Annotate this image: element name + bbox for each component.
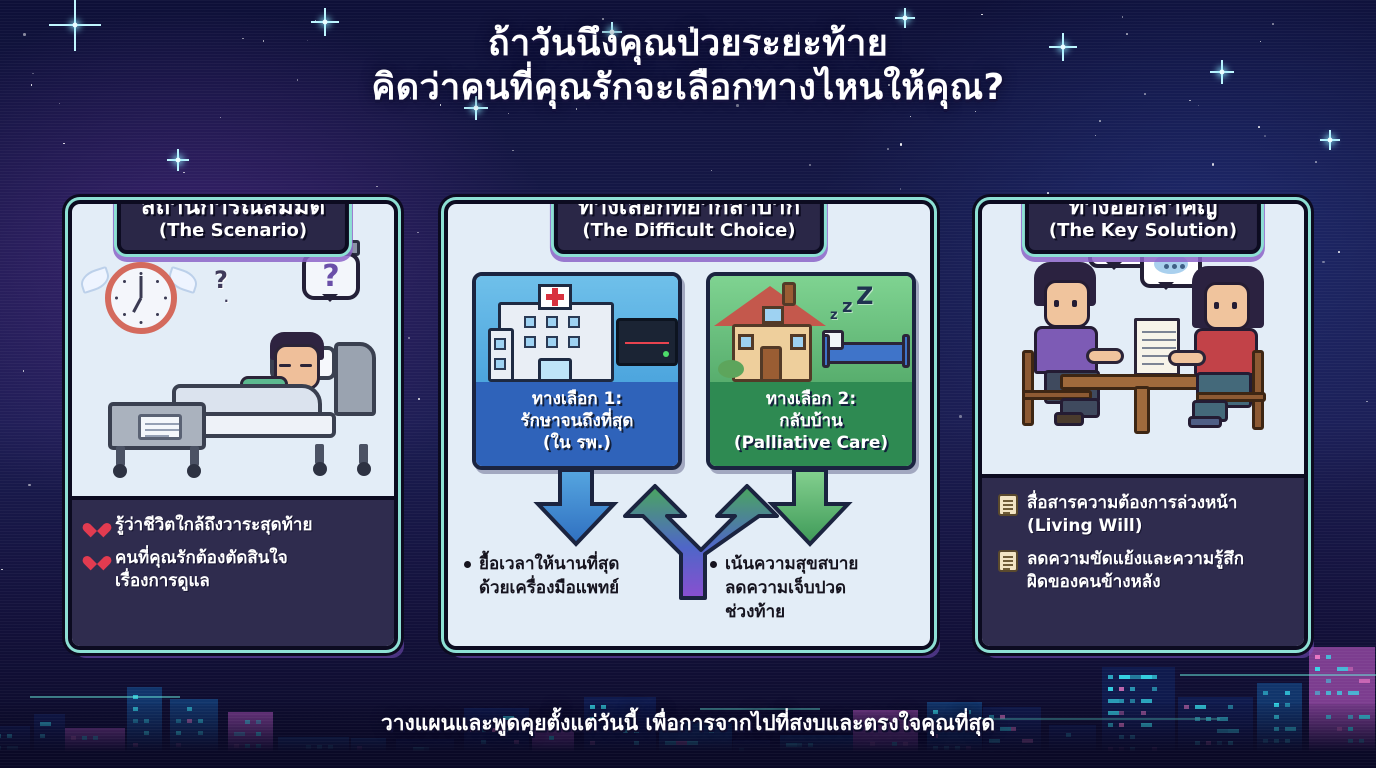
star <box>975 111 977 113</box>
scenario-bullets: รู้ว่าชีวิตใกล้ถึงวาระสุดท้าย คนที่คุณรั… <box>72 496 394 646</box>
list-item: รู้ว่าชีวิตใกล้ถึงวาระสุดท้าย <box>88 514 380 537</box>
star <box>1047 192 1049 194</box>
building-window <box>1337 691 1342 695</box>
building-window <box>1348 691 1359 695</box>
star <box>1264 135 1266 137</box>
choice-2-bullet: เน้นความสุขสบาย ลดความเจ็บปวด ช่วงท้าย <box>710 552 922 624</box>
building-window <box>1285 691 1290 695</box>
building-window <box>1359 679 1370 683</box>
neon-wire <box>30 696 180 698</box>
building-window <box>1130 687 1135 691</box>
building-window <box>1326 691 1331 695</box>
building-window <box>1348 667 1353 671</box>
star <box>183 172 185 174</box>
panel-header-english: (The Scenario) <box>141 220 325 242</box>
home-bed-icon: Z z z <box>710 276 912 390</box>
panel-header-english: (The Difficult Choice) <box>578 220 800 242</box>
living-will-document-icon <box>1134 318 1180 376</box>
patient-eye-left <box>279 364 291 367</box>
person-left <box>1024 262 1144 442</box>
building-window <box>1315 655 1320 659</box>
choice-1-line-3: (ใน รพ.) <box>480 432 674 454</box>
hospital-bed <box>94 314 384 454</box>
person-right <box>1186 266 1306 446</box>
title-line-2: คิดว่าคนที่คุณรักจะเลือกทางไหนให้คุณ? <box>0 66 1376 110</box>
bullet-text: ยื้อเวลาให้นานที่สุด ด้วยเครื่องมือแพทย์ <box>479 552 619 600</box>
chair-left <box>1022 350 1034 426</box>
building-window <box>1315 667 1320 671</box>
bullet-text: เน้นความสุขสบาย ลดความเจ็บปวด ช่วงท้าย <box>725 552 858 624</box>
table-leg <box>1134 386 1150 434</box>
bullet-text: รู้ว่าชีวิตใกล้ถึงวาระสุดท้าย <box>115 514 312 537</box>
scroll-document-icon <box>998 550 1018 572</box>
building-window <box>1326 655 1331 659</box>
person-left-arm <box>1086 348 1124 364</box>
person-right-shoe <box>1188 416 1222 428</box>
choice-1-line-2: รักษาจนถึงที่สุด <box>480 410 674 432</box>
building-window <box>1130 675 1141 679</box>
heart-icon <box>88 517 106 534</box>
list-item: คนที่คุณรักต้องตัดสินใจ เรื่องการดูแล <box>88 547 380 593</box>
person-right-arm <box>1168 350 1206 366</box>
star <box>1338 251 1340 253</box>
sparkle-star <box>167 149 189 171</box>
star <box>900 188 902 190</box>
neon-wire <box>1180 674 1376 676</box>
title-line-1: ถ้าวันนึงคุณป่วยระยะท้าย <box>0 22 1376 66</box>
person-left-face <box>1044 280 1090 328</box>
star <box>1099 120 1101 122</box>
bullet-dot <box>710 561 717 568</box>
star <box>959 415 962 418</box>
chair-right <box>1252 350 1264 430</box>
person-left-shoe <box>1054 412 1084 426</box>
choice-1-caption: ทางเลือก 1: รักษาจนถึงที่สุด (ใน รพ.) <box>476 382 678 466</box>
footer-caption: วางแผนและพูดคุยตั้งแต่วันนี้ เพื่อการจาก… <box>0 707 1376 740</box>
building-window <box>1119 699 1124 703</box>
bullet-text: สื่อสารความต้องการล่วงหน้า (Living Will) <box>1027 492 1237 538</box>
patient-eye-right <box>300 364 312 367</box>
star <box>330 194 332 196</box>
building-window <box>1315 691 1320 695</box>
star <box>63 143 65 145</box>
star <box>1315 161 1317 163</box>
person-right-face <box>1204 282 1250 330</box>
hospital-icon <box>476 276 678 390</box>
star <box>28 484 31 487</box>
panel-difficult-choice-header: ทางเลือกที่ยากลำบาก (The Difficult Choic… <box>554 200 824 254</box>
panel-header-thai: ทางออกสำคัญ <box>1049 200 1237 220</box>
panel-scenario-header: สถานการณ์สมมติ (The Scenario) <box>117 200 349 254</box>
building-window <box>1337 667 1348 671</box>
star <box>887 148 889 150</box>
panel-difficult-choice: ทางเลือก 1: รักษาจนถึงที่สุด (ใน รพ.) <box>444 200 934 650</box>
building-window <box>1108 675 1113 679</box>
choice-card-1[interactable]: ทางเลือก 1: รักษาจนถึงที่สุด (ใน รพ.) <box>472 272 682 470</box>
choice-1-bullet: ยื้อเวลาให้นานที่สุด ด้วยเครื่องมือแพทย์ <box>464 552 672 600</box>
panel-header-english: (The Key Solution) <box>1049 220 1237 242</box>
star <box>376 186 378 188</box>
star <box>1122 16 1124 18</box>
bed-headboard <box>334 342 376 416</box>
panel-key-solution: สื่อสารความต้องการล่วงหน้า (Living Will)… <box>978 200 1308 650</box>
panel-key-solution-header: ทางออกสำคัญ (The Key Solution) <box>1025 200 1261 254</box>
choice-2-caption: ทางเลือก 2: กลับบ้าน (Palliative Care) <box>710 382 912 466</box>
building-window <box>1141 699 1152 703</box>
question-mark-small-icon: ? <box>214 266 228 294</box>
star <box>900 143 903 146</box>
panel-header-thai: สถานการณ์สมมติ <box>141 200 325 220</box>
choice-2-line-1: ทางเลือก 2: <box>714 388 908 410</box>
choice-2-line-2: กลับบ้าน <box>714 410 908 432</box>
star <box>910 116 912 118</box>
list-item: ลดความขัดแย้งและความรู้สึก ผิดของคนข้างห… <box>998 548 1290 594</box>
building-window <box>1152 675 1157 679</box>
scroll-document-icon <box>998 494 1018 516</box>
choice-1-line-1: ทางเลือก 1: <box>480 388 674 410</box>
building-window <box>1108 687 1113 691</box>
page-title: ถ้าวันนึงคุณป่วยระยะท้าย คิดว่าคนที่คุณร… <box>0 22 1376 110</box>
building-window <box>1152 687 1157 691</box>
building-window <box>1141 675 1152 679</box>
list-item: สื่อสารความต้องการล่วงหน้า (Living Will) <box>998 492 1290 538</box>
question-thought-bubble: ? <box>302 252 360 300</box>
sparkle-star <box>1320 130 1340 150</box>
star <box>1258 126 1260 128</box>
star <box>512 150 514 152</box>
panel-scenario: ? · ? <box>68 200 398 650</box>
heart-icon <box>88 550 106 567</box>
building-window <box>1263 691 1268 695</box>
bullet-text: ลดความขัดแย้งและความรู้สึก ผิดของคนข้างห… <box>1027 548 1244 594</box>
building-window <box>1119 675 1130 679</box>
bed-chart-icon <box>138 414 182 440</box>
building-window <box>1108 699 1119 703</box>
building-window <box>1119 687 1124 691</box>
choice-card-2[interactable]: Z z z ทางเลือก 2: กลับบ้าน (Palliative C… <box>706 272 916 470</box>
bullet-text: คนที่คุณรักต้องตัดสินใจ เรื่องการดูแล <box>115 547 288 593</box>
building-window <box>1130 699 1135 703</box>
bullet-dot <box>464 561 471 568</box>
infographic-canvas: ถ้าวันนึงคุณป่วยระยะท้าย คิดว่าคนที่คุณร… <box>0 0 1376 768</box>
question-mark-tiny-icon: · <box>224 294 229 308</box>
key-solution-bullets: สื่อสารความต้องการล่วงหน้า (Living Will)… <box>982 474 1304 646</box>
choice-2-line-3: (Palliative Care) <box>714 432 908 454</box>
panel-header-thai: ทางเลือกที่ยากลำบาก <box>578 200 800 220</box>
star <box>1322 261 1325 264</box>
building-window <box>1326 679 1331 683</box>
